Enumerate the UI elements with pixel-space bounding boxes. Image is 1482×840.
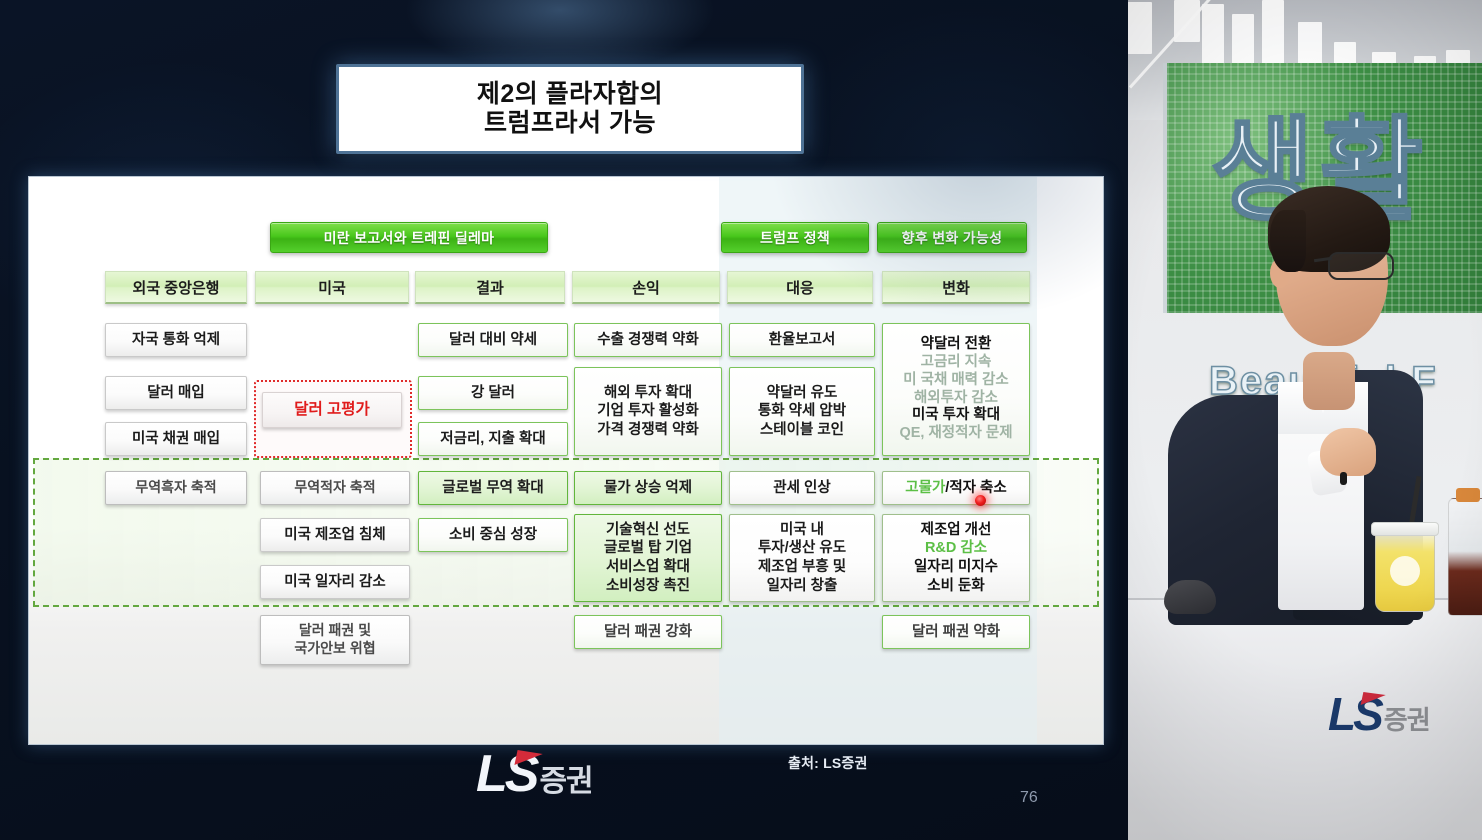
cell-bottom-usa: 달러 패권 및 국가안보 위협	[260, 615, 410, 665]
group-header-miran: 미란 보고서와 트레핀 딜레마	[270, 222, 548, 253]
screenshot-root: 제2의 플라자합의 트럼프라서 가능 미란 보고서와 트레핀 딜레마 트럼프 정…	[0, 0, 1482, 840]
person-glasses-icon	[1328, 252, 1394, 280]
cell-top-dollar-overvalued: 달러 고평가	[262, 392, 402, 428]
cell-bottom-pnl: 달러 패권 강화	[574, 615, 722, 649]
cell-line: 고물가	[905, 479, 945, 498]
cell-line: 미 국채 매력 감소	[903, 372, 1008, 390]
cell-line: 일자리 창출	[767, 577, 838, 596]
page-number: 76	[1020, 789, 1038, 807]
cell-mid-change-2: 제조업 개선 R&D 감소 일자리 미지수 소비 둔화	[882, 514, 1030, 602]
ls-logo-mark: LS	[1328, 694, 1381, 734]
source-note: 출처: LS증권	[788, 753, 868, 773]
drink-cup-lid	[1371, 522, 1439, 536]
video-panel: 생활 Beautiful F LS	[1128, 0, 1482, 840]
cell-mid-result-1: 글로벌 무역 확대	[418, 471, 568, 505]
lapel-microphone-icon	[1340, 472, 1347, 485]
cell-line: 약달러 전환	[921, 336, 992, 354]
cell-mid-pnl-1: 물가 상승 억제	[574, 471, 722, 505]
person-sideburn	[1270, 210, 1306, 272]
cell-line: 달러 패권 및	[299, 622, 371, 640]
cell-top-response-2: 약달러 유도 통화 약세 압박 스테이블 코인	[729, 367, 875, 456]
cell-line: 해외 투자 확대	[604, 384, 692, 403]
cell-line: 가격 경쟁력 약화	[597, 421, 698, 440]
cell-line: 기업 투자 활성화	[597, 402, 698, 421]
person-neck	[1303, 352, 1355, 410]
cell-top-result-1: 달러 대비 약세	[418, 323, 568, 357]
drink-cup-label	[1390, 556, 1420, 586]
cell-mid-fcb-1: 무역흑자 축적	[105, 471, 247, 505]
cell-line: 미국 내	[780, 521, 824, 540]
cell-line: 미국 투자 확대	[912, 407, 1000, 425]
cell-top-fcb-3: 미국 채권 매입	[105, 422, 247, 456]
column-header-response: 대응	[727, 271, 873, 304]
cell-top-response-1: 환율보고서	[729, 323, 875, 357]
cell-line: 투자/생산 유도	[758, 539, 846, 558]
column-header-profit-loss: 손익	[572, 271, 720, 304]
beverage-bottle	[1448, 498, 1482, 616]
cell-mid-change-1: 고물가 /적자 축소	[882, 471, 1030, 505]
cell-line: 국가안보 위협	[294, 640, 375, 658]
column-header-result: 결과	[415, 271, 565, 304]
cell-mid-usa-2: 미국 제조업 침체	[260, 518, 410, 552]
cell-top-fcb-1: 자국 통화 억제	[105, 323, 247, 357]
cell-line: 관세 인상	[773, 479, 830, 498]
cell-mid-response-2: 미국 내 투자/생산 유도 제조업 부흥 및 일자리 창출	[729, 514, 875, 602]
cell-top-change-block: 약달러 전환 고금리 지속 미 국채 매력 감소 해외투자 감소 미국 투자 확…	[882, 323, 1030, 456]
cell-line: R&D 감소	[925, 539, 987, 558]
cell-mid-usa-1: 무역적자 축적	[260, 471, 410, 505]
cell-line: 소비성장 촉진	[606, 577, 690, 596]
cell-mid-result-2: 소비 중심 성장	[418, 518, 568, 552]
cell-line: 해외투자 감소	[914, 390, 998, 408]
ls-logo-arrow-icon	[515, 750, 544, 765]
cell-line: QE, 재정적자 문제	[899, 425, 1012, 443]
column-header-change: 변화	[882, 271, 1030, 304]
cell-line: 제조업 개선	[921, 521, 992, 540]
ls-logo-arrow-icon	[1360, 692, 1386, 705]
person-hand	[1320, 428, 1376, 476]
cell-line: 서비스업 확대	[606, 558, 690, 577]
group-header-future-change: 향후 변화 가능성	[877, 222, 1027, 253]
cell-mid-response-1: 관세 인상	[729, 471, 875, 505]
cell-line: 고금리 지속	[921, 354, 992, 372]
slide-title-line-2: 트럼프라서 가능	[484, 109, 656, 139]
cell-line: 소비 둔화	[927, 577, 984, 596]
group-header-trump-policy: 트럼프 정책	[721, 222, 869, 253]
cell-line: 약달러 유도	[767, 384, 838, 403]
cell-line: 환율보고서	[769, 331, 836, 350]
ls-logo-mark: LS	[476, 752, 536, 798]
cell-mid-usa-3: 미국 일자리 감소	[260, 565, 410, 599]
backdrop-bar-1	[1128, 2, 1152, 54]
cell-line: 기술혁신 선도	[606, 521, 690, 540]
beverage-bottle-cap	[1456, 488, 1480, 502]
presentation-stage: 제2의 플라자합의 트럼프라서 가능 미란 보고서와 트레핀 딜레마 트럼프 정…	[0, 0, 1128, 840]
cell-top-pnl-1: 수출 경쟁력 약화	[574, 323, 722, 357]
cell-line: 통화 약세 압박	[758, 402, 846, 421]
laser-pointer-dot	[975, 495, 986, 506]
cell-line: 일자리 미지수	[914, 558, 998, 577]
ls-logo-subtext: 증권	[539, 766, 592, 798]
cell-top-fcb-2: 달러 매입	[105, 376, 247, 410]
cell-line: /적자 축소	[945, 479, 1006, 498]
cell-top-pnl-2: 해외 투자 확대 기업 투자 활성화 가격 경쟁력 약화	[574, 367, 722, 456]
slide-title-plate: 제2의 플라자합의 트럼프라서 가능	[336, 64, 804, 154]
cell-line: 수출 경쟁력 약화	[597, 331, 698, 350]
column-header-usa: 미국	[255, 271, 409, 304]
cell-top-result-3: 저금리, 지출 확대	[418, 422, 568, 456]
slide-card: 미란 보고서와 트레핀 딜레마 트럼프 정책 향후 변화 가능성 외국 중앙은행…	[28, 176, 1104, 745]
cell-mid-pnl-2: 기술혁신 선도 글로벌 탑 기업 서비스업 확대 소비성장 촉진	[574, 514, 722, 602]
ls-securities-logo-footer: LS 증권	[476, 752, 593, 798]
ls-logo-subtext: 증권	[1384, 707, 1430, 734]
computer-mouse-icon	[1164, 580, 1216, 614]
slide-title-line-1: 제2의 플라자합의	[477, 80, 663, 110]
cell-line: 글로벌 탑 기업	[604, 539, 692, 558]
ls-securities-logo-video: LS 증권	[1328, 694, 1430, 734]
cell-line: 제조업 부흥 및	[758, 558, 846, 577]
cell-line: 스테이블 코인	[760, 421, 844, 440]
cell-top-result-2: 강 달러	[418, 376, 568, 410]
cell-line: 물가 상승 억제	[604, 479, 692, 498]
cell-bottom-change: 달러 패권 약화	[882, 615, 1030, 649]
column-header-foreign-central-banks: 외국 중앙은행	[105, 271, 247, 304]
